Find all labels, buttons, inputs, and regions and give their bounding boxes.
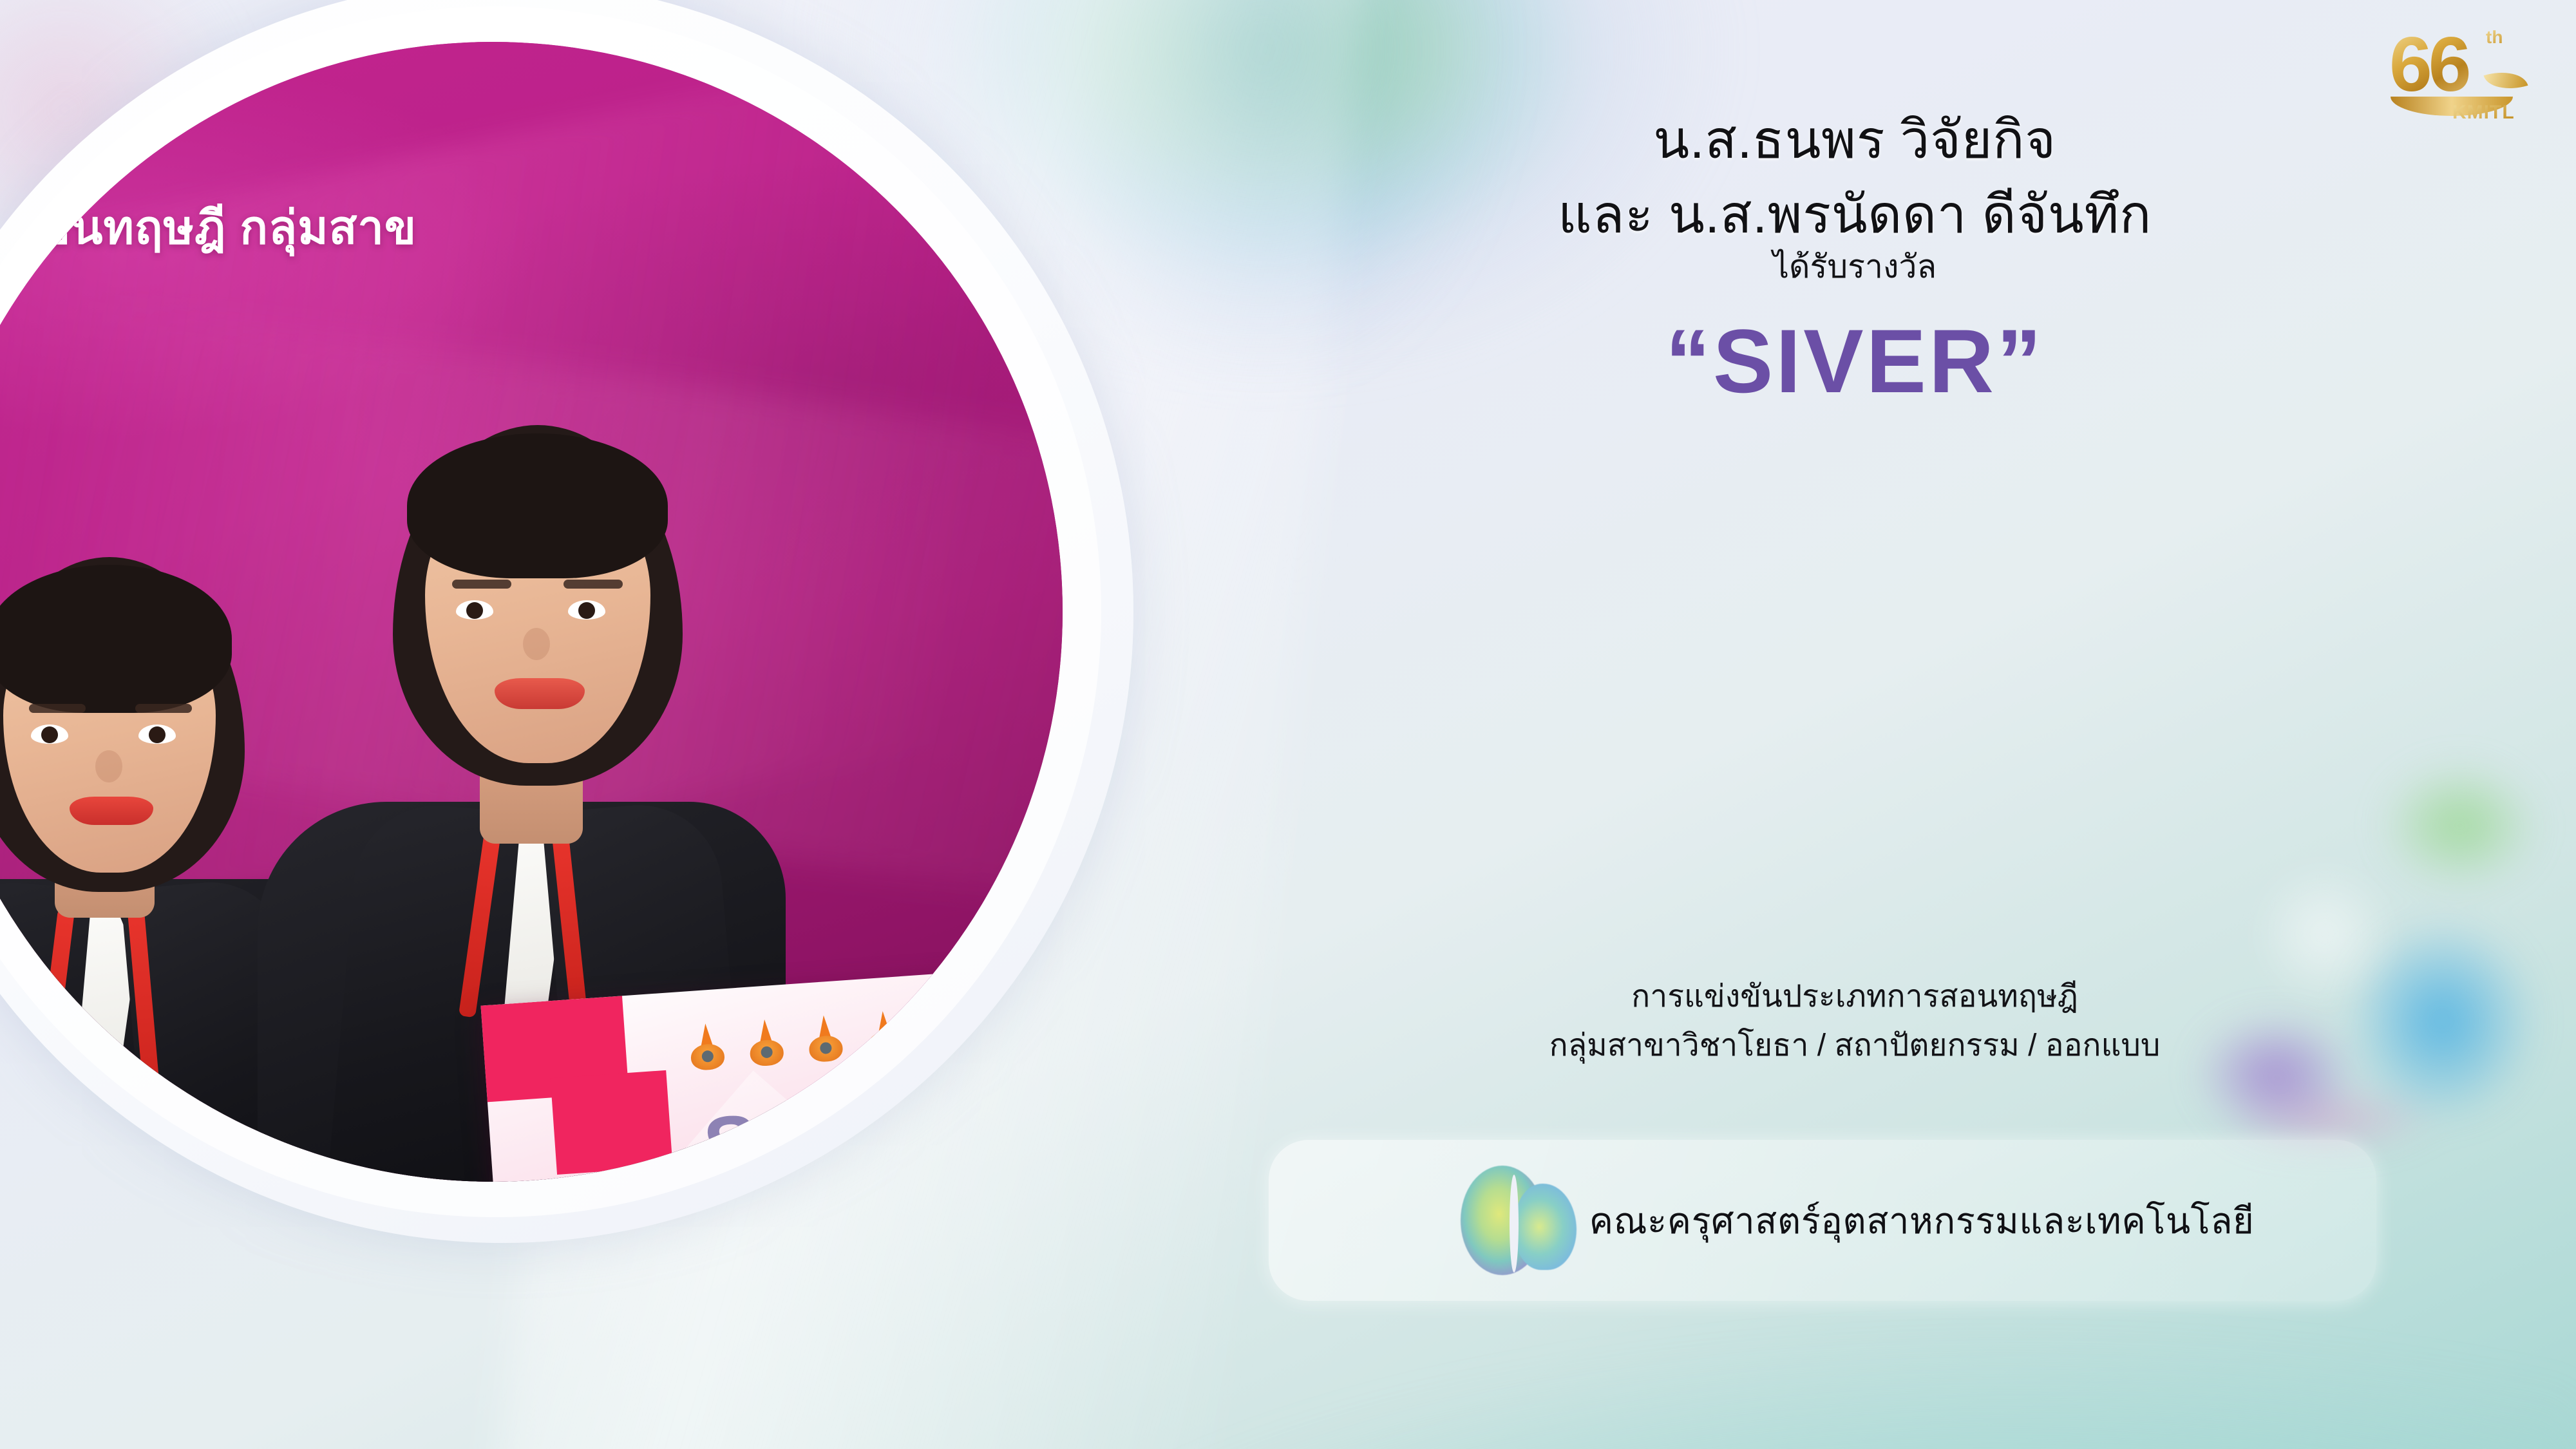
student-left-brow-r <box>135 704 192 713</box>
royal-emblem-icon <box>688 1023 725 1071</box>
competition-details: การแข่งขันประเภทการสอนทฤษฎี กลุ่มสาขาวิช… <box>1133 972 2576 1070</box>
photo-banner-text: ารสอนทฤษฎี กลุ่มสาข <box>0 190 889 264</box>
student-right-eye-r <box>568 600 605 620</box>
received-label: ได้รับรางวัล <box>1133 241 2576 292</box>
student-left-eye-r <box>138 724 176 744</box>
faculty-logo-icon <box>1455 1159 1578 1282</box>
content-column: 66 th KMITL น.ส.ธนพร วิจัยกิจ และ น.ส.พร… <box>1133 0 2576 1449</box>
faculty-logo-shape-b <box>1515 1184 1577 1270</box>
cert-emblem-row <box>688 1010 902 1071</box>
royal-emblem-icon <box>807 1014 844 1063</box>
competition-line-1: การแข่งขันประเภทการสอนทฤษฎี <box>1133 972 2576 1021</box>
recipient-name-1: น.ส.ธนพร วิจัยกิจ <box>1133 103 2576 178</box>
student-right-fringe <box>407 433 668 578</box>
certificate: SILVER การแข่งขั กลุ่มสาขาวิช THAILAND ค… <box>480 972 987 1182</box>
recipient-names: น.ส.ธนพร วิจัยกิจ และ น.ส.พรนัดดา ดีจันท… <box>1133 103 2576 253</box>
student-right-lips <box>495 678 585 709</box>
student-left-lips <box>70 797 153 825</box>
royal-emblem-icon <box>866 1010 903 1058</box>
student-right-eye-l <box>456 600 493 620</box>
award-title: “SIVER” <box>1133 309 2576 413</box>
cert-chevron-2 <box>551 1070 673 1175</box>
student-left-fringe <box>0 565 232 713</box>
student-left-eye-l <box>31 724 68 744</box>
competition-line-2: กลุ่มสาขาวิชาโยธา / สถาปัตยกรรม / ออกแบบ <box>1133 1021 2576 1070</box>
faculty-logo-slit <box>1510 1175 1519 1273</box>
anniversary-ordinal: th <box>2486 27 2503 48</box>
student-right-brow-l <box>452 580 511 589</box>
royal-emblem-icon <box>748 1018 784 1066</box>
anniversary-number: 66 <box>2389 26 2502 97</box>
student-left-brow-l <box>29 704 86 713</box>
student-left-badge <box>90 1111 161 1162</box>
student-right-nose <box>523 628 550 660</box>
award-photo: ารสอนทฤษฎี กลุ่มสาข <box>0 42 1063 1182</box>
faculty-row: คณะครุศาสตร์อุตสาหกรรมและเทคโนโลยี <box>1133 1153 2576 1288</box>
faculty-name: คณะครุศาสตร์อุตสาหกรรมและเทคโนโลยี <box>1589 1192 2255 1249</box>
student-left-nose <box>95 750 122 782</box>
student-right-brow-r <box>563 580 623 589</box>
